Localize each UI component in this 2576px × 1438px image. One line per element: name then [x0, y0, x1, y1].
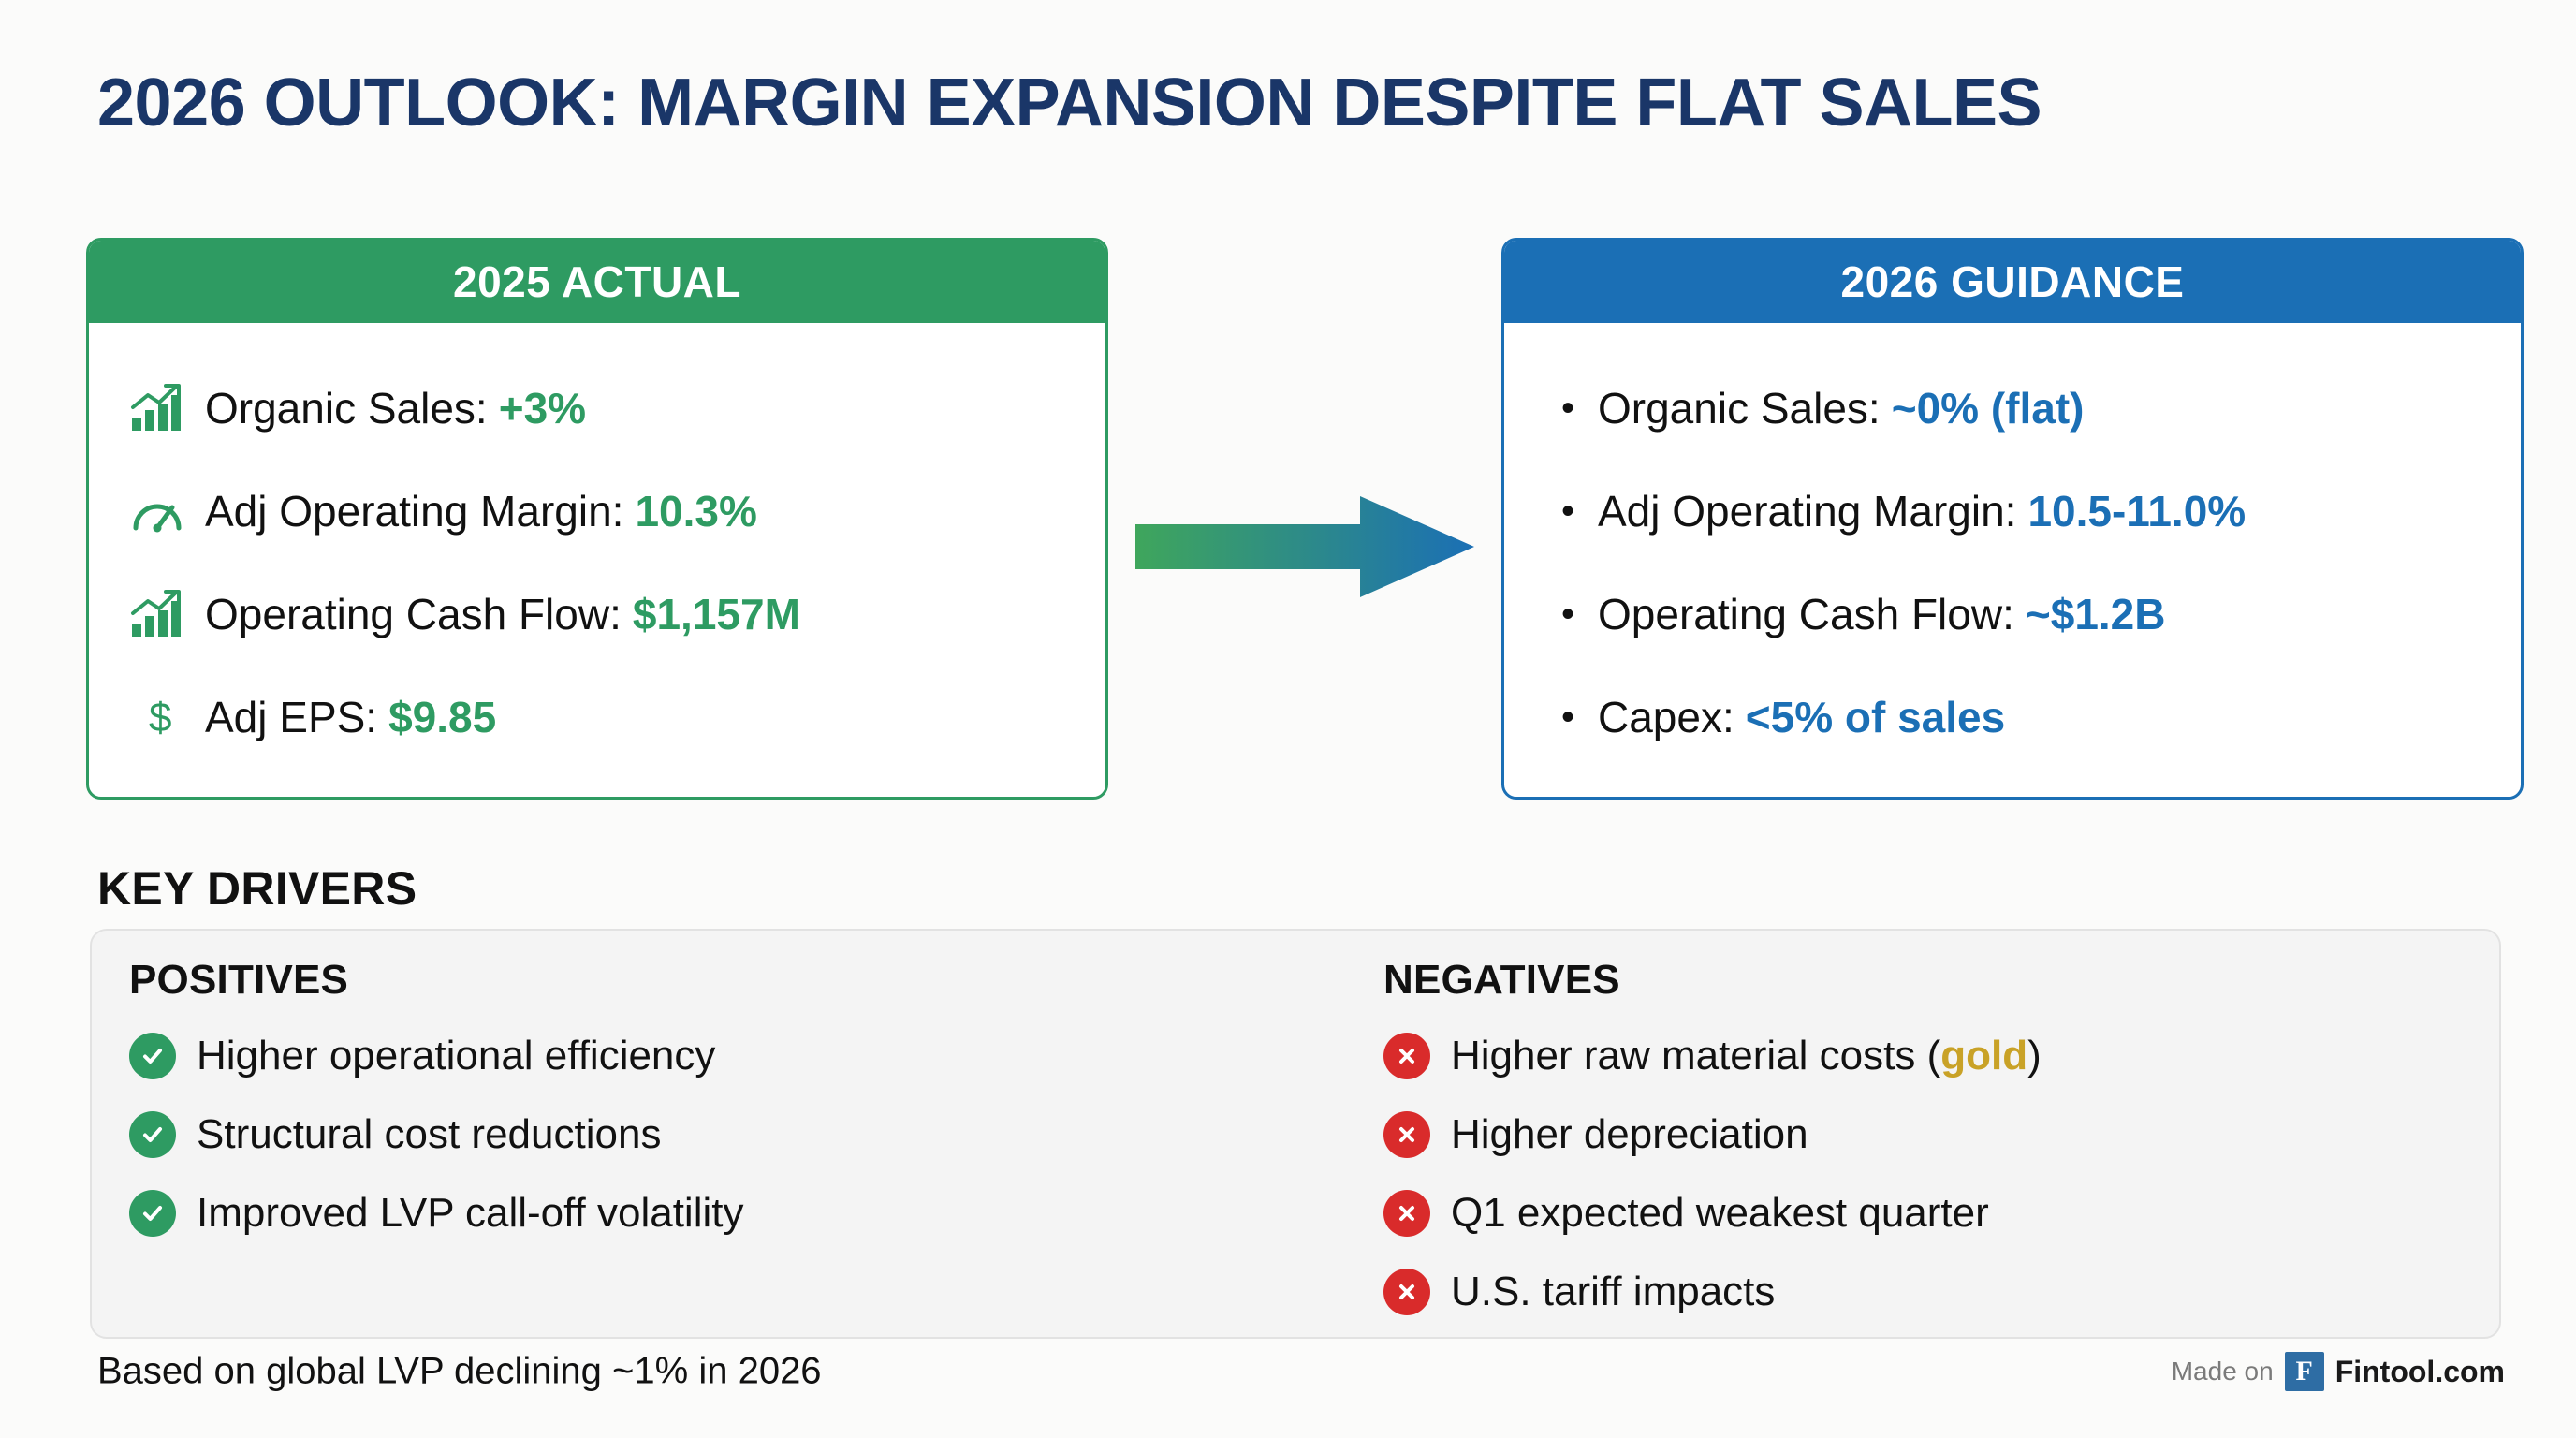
metric-label: Organic Sales: — [205, 383, 488, 433]
bullet-icon: • — [1545, 595, 1590, 633]
bullet-icon: • — [1545, 698, 1590, 736]
card-2026-guidance: 2026 GUIDANCE • Organic Sales: ~0% (flat… — [1501, 238, 2524, 800]
key-drivers-panel: POSITIVES Higher operational efficiency … — [90, 929, 2501, 1339]
fintool-logo-icon: F — [2285, 1352, 2324, 1391]
metric-label: Organic Sales: — [1598, 383, 1881, 433]
metric-row: • Operating Cash Flow: ~$1.2B — [1545, 563, 2480, 666]
list-item-label: Higher depreciation — [1451, 1111, 1808, 1158]
metric-value: ~$1.2B — [2026, 589, 2166, 639]
metric-row: • Adj Operating Margin: 10.5-11.0% — [1545, 460, 2480, 563]
dollar-sign-icon: $ — [130, 693, 192, 741]
list-item-label: Improved LVP call-off volatility — [197, 1190, 743, 1237]
x-circle-icon — [1383, 1111, 1430, 1158]
bullet-icon: • — [1545, 389, 1590, 427]
metric-value: ~0% (flat) — [1892, 383, 2085, 433]
list-item: Structural cost reductions — [129, 1095, 1346, 1174]
metric-label: Capex: — [1598, 692, 1734, 742]
chart-up-icon — [130, 590, 192, 638]
metric-label: Operating Cash Flow: — [1598, 589, 2014, 639]
card-2025-header: 2025 ACTUAL — [89, 241, 1105, 323]
brand-attribution[interactable]: Made on F Fintool.com — [2172, 1352, 2505, 1391]
x-circle-icon — [1383, 1269, 1430, 1315]
positives-heading: POSITIVES — [129, 957, 1346, 1004]
list-item-label: Higher operational efficiency — [197, 1033, 715, 1079]
x-circle-icon — [1383, 1190, 1430, 1237]
metric-label: Operating Cash Flow: — [205, 589, 622, 639]
list-item-label: Q1 expected weakest quarter — [1451, 1190, 1989, 1237]
card-2026-header: 2026 GUIDANCE — [1504, 241, 2521, 323]
list-item-label: Higher raw material costs (gold) — [1451, 1033, 2042, 1079]
list-item: Higher operational efficiency — [129, 1017, 1346, 1095]
x-circle-icon — [1383, 1033, 1430, 1079]
footnote: Based on global LVP declining ~1% in 202… — [97, 1351, 822, 1393]
made-on-label: Made on — [2172, 1357, 2274, 1387]
check-circle-icon — [129, 1190, 176, 1237]
metric-row: • Organic Sales: ~0% (flat) — [1545, 357, 2480, 460]
positives-column: POSITIVES Higher operational efficiency … — [92, 931, 1346, 1337]
page-title: 2026 OUTLOOK: MARGIN EXPANSION DESPITE F… — [97, 69, 2042, 137]
metric-label: Adj Operating Margin: — [1598, 486, 2016, 536]
metric-row: Operating Cash Flow: $1,157M — [130, 563, 1064, 666]
metric-value: $9.85 — [388, 692, 496, 742]
metric-row: Adj Operating Margin: 10.3% — [130, 460, 1064, 563]
list-item: Higher depreciation — [1383, 1095, 2469, 1174]
metric-value: +3% — [499, 383, 586, 433]
card-2025-body: Organic Sales: +3% Adj Operating Margin:… — [89, 323, 1105, 787]
key-drivers-heading: KEY DRIVERS — [97, 861, 417, 916]
card-2025-actual: 2025 ACTUAL Organic Sales: +3% — [86, 238, 1108, 800]
bullet-icon: • — [1545, 492, 1590, 530]
metric-value: <5% of sales — [1746, 692, 2005, 742]
list-item-label: Structural cost reductions — [197, 1111, 661, 1158]
negatives-column: NEGATIVES Higher raw material costs (gol… — [1346, 931, 2469, 1337]
metric-row: • Capex: <5% of sales — [1545, 666, 2480, 769]
list-item: U.S. tariff impacts — [1383, 1253, 2469, 1331]
metric-value: 10.5-11.0% — [2027, 486, 2246, 536]
metric-label: Adj Operating Margin: — [205, 486, 623, 536]
check-circle-icon — [129, 1111, 176, 1158]
card-2026-body: • Organic Sales: ~0% (flat) • Adj Operat… — [1504, 323, 2521, 787]
list-item: Higher raw material costs (gold) — [1383, 1017, 2469, 1095]
list-item-label: U.S. tariff impacts — [1451, 1269, 1775, 1315]
svg-text:$: $ — [149, 695, 171, 741]
metric-value: $1,157M — [633, 589, 800, 639]
list-item: Improved LVP call-off volatility — [129, 1174, 1346, 1253]
metric-row: Organic Sales: +3% — [130, 357, 1064, 460]
infographic-page: 2026 OUTLOOK: MARGIN EXPANSION DESPITE F… — [0, 0, 2576, 1438]
metric-row: $ Adj EPS: $9.85 — [130, 666, 1064, 769]
metric-value: 10.3% — [635, 486, 756, 536]
check-circle-icon — [129, 1033, 176, 1079]
gauge-icon — [130, 487, 192, 536]
gold-highlight: gold — [1940, 1033, 2027, 1078]
list-item: Q1 expected weakest quarter — [1383, 1174, 2469, 1253]
chart-up-icon — [130, 384, 192, 433]
brand-name: Fintool.com — [2335, 1355, 2505, 1389]
right-arrow-icon — [1135, 496, 1474, 597]
metric-label: Adj EPS: — [205, 692, 377, 742]
negatives-heading: NEGATIVES — [1383, 957, 2469, 1004]
